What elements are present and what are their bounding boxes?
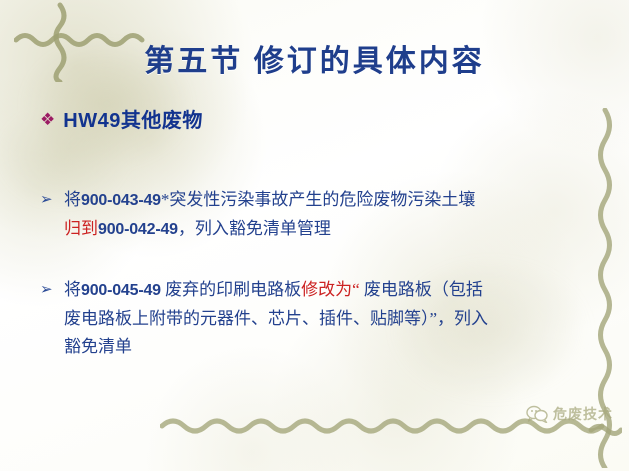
text-run: 修改为“ [301,280,360,299]
text-run: 900-045-49 [81,282,161,299]
watermark-label: 危废技术 [553,404,613,424]
bullet-line: 豁免清单 [64,333,600,361]
bullet-line: 将900-043-49*突发性污染事故产生的危险废物污染土壤 [64,186,600,215]
section-heading: ❖ HW49其他废物 [40,104,203,133]
slide-title: 第五节 修订的具体内容 [0,36,629,80]
section-heading-label: HW49其他废物 [63,104,203,133]
text-run: 将 [64,280,81,299]
bullet-text: 将900-043-49*突发性污染事故产生的危险废物污染土壤归到900-042-… [64,186,600,244]
bullet-item: ➢ 将900-045-49 废弃的印刷电路板修改为“ 废电路板（包括废电路板上附… [40,276,600,361]
bullet-text: 将900-045-49 废弃的印刷电路板修改为“ 废电路板（包括废电路板上附带的… [64,276,600,361]
watermark: 危废技术 [526,404,613,424]
arrow-bullet-icon: ➢ [40,276,64,304]
text-run: 900-043-49 [81,192,161,209]
text-run: 将 [64,190,81,209]
text-run: 废电路板上附带的元器件、芯片、插件、贴脚等）”，列入 [64,309,488,328]
wechat-bubble-icon [526,405,548,423]
text-run: 豁免清单 [64,337,132,356]
slide-canvas: 第五节 修订的具体内容 ❖ HW49其他废物 ➢ 将900-043-49*突发性… [0,0,629,471]
bullet-line: 将900-045-49 废弃的印刷电路板修改为“ 废电路板（包括 [64,276,600,305]
text-run: 废弃的印刷电路板 [161,280,301,299]
diamond-bullet-icon: ❖ [40,111,55,128]
text-run: ，列入豁免清单管理 [178,219,331,238]
text-run: 900-042-49 [98,221,178,238]
text-run: *突发性污染事故产生的危险废物污染土壤 [161,190,476,209]
bullet-line: 废电路板上附带的元器件、芯片、插件、贴脚等）”，列入 [64,305,600,333]
bullet-item: ➢ 将900-043-49*突发性污染事故产生的危险废物污染土壤归到900-04… [40,186,600,244]
text-run: 废电路板（包括 [360,280,483,299]
arrow-bullet-icon: ➢ [40,186,64,214]
bullet-line: 归到900-042-49，列入豁免清单管理 [64,215,600,244]
text-run: 归到 [64,219,98,238]
